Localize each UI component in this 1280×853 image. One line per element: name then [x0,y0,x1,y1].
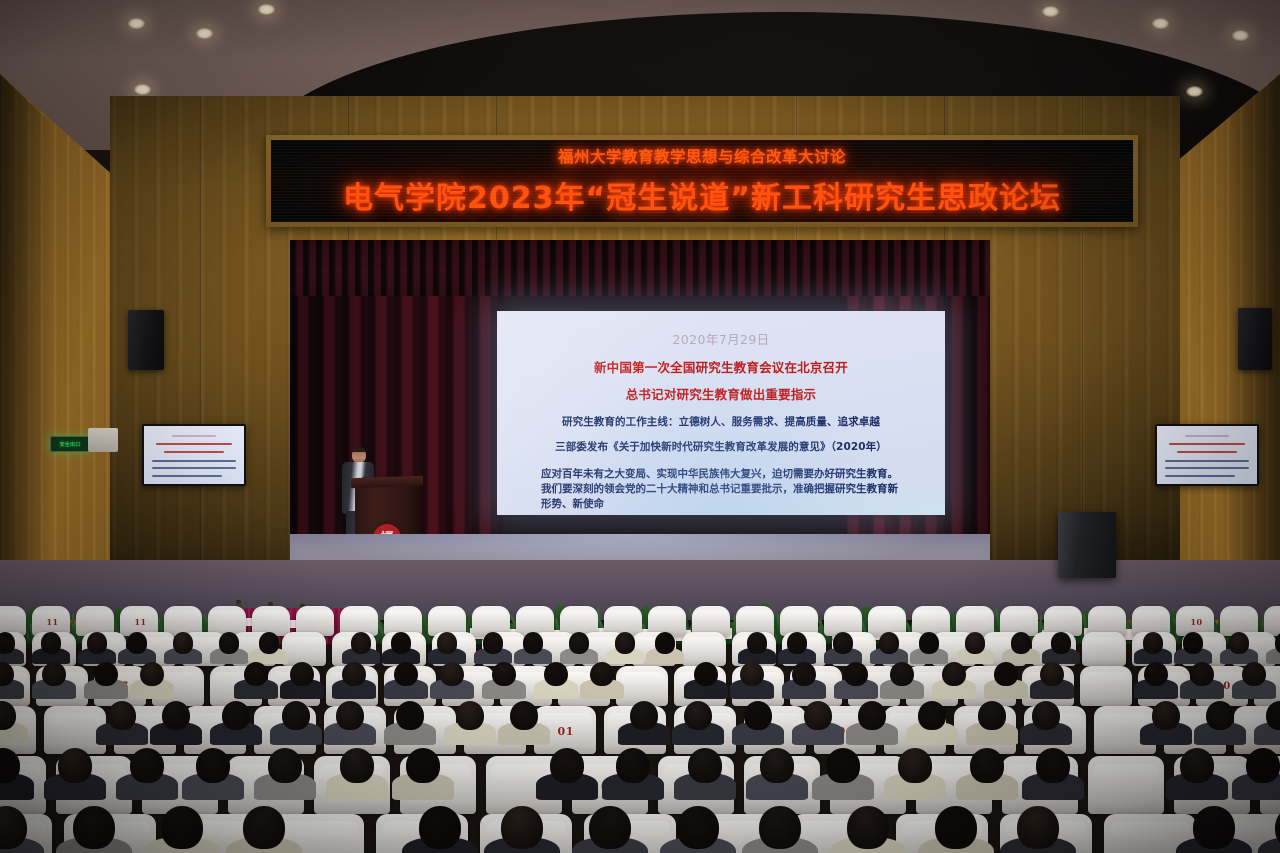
audience-member-head [744,701,772,730]
audience-member-head [523,632,544,654]
mini-text-line [152,460,236,462]
audience-member-head [1246,748,1279,783]
audience-member-head [1190,662,1214,687]
audience-member-head [792,662,816,687]
audience-seating: 1111100907100104050102 [0,600,1280,853]
curtain-valance [290,240,990,296]
audience-member-head [41,632,62,654]
audience-member-head [483,632,504,654]
projection-screen: 2020年7月29日 新中国第一次全国研究生教育会议在北京召开 总书记对研究生教… [497,311,945,515]
audience-member-head [87,632,108,654]
audience-member-head [290,662,314,687]
audience-member-head [391,632,412,654]
audience-member-head [1152,701,1180,730]
audience-member-head [351,632,372,654]
slide-heading-2: 总书记对研究生教育做出重要指示 [626,384,817,403]
audience-member-head [1144,662,1168,687]
audience-member-head [94,662,118,687]
audience-member-head [342,662,366,687]
audience-member-head [161,806,202,849]
seat-number: 10 [1190,617,1202,627]
audience-member-head [243,806,284,849]
audience-member-head [396,701,424,730]
audience-member-head [282,701,310,730]
downlight [1186,86,1203,97]
audience-member-head [1229,632,1250,654]
audience-member-head [1032,701,1060,730]
wall-ac-unit [88,428,118,452]
side-monitor-screen [144,426,244,484]
downlight [196,28,213,39]
audience-member-head [42,662,66,687]
audience-member-head [935,806,976,849]
audience-member-head [336,701,364,730]
audience-member-head [268,748,301,783]
audience-member-head [173,632,194,654]
audience-member-head [437,632,458,654]
audience-member-head [1180,748,1213,783]
audience-member-head [162,701,190,730]
audience-member-head [1242,662,1266,687]
audience-member-head [590,662,614,687]
audience-member-head [108,701,136,730]
audience-member-head [688,748,721,783]
audience-member-head [898,748,931,783]
audience-member-head [918,701,946,730]
left-wall-shadow [0,74,52,634]
audience-member-head [942,662,966,687]
side-monitor-screen [1157,426,1257,484]
side-monitor-left [142,424,246,486]
led-banner-title: 电气学院2023年“冠生说道”新工科研究生思政论坛 [343,173,1061,217]
audience-member-head [406,748,439,783]
mini-text-line [156,443,232,445]
audience-member-head [655,632,676,654]
audience-member-head [847,806,888,849]
audience-member-head [615,632,636,654]
audience-member-head [826,748,859,783]
audience-member-head [787,632,808,654]
audience-chair[interactable] [1082,632,1126,666]
led-banner-subtitle: 福州大学教育教学思想与综合改革大讨论 [558,145,846,167]
audience-member-head [73,806,114,849]
audience-member-head [879,632,900,654]
audience-member-head [196,748,229,783]
led-screen: 福州大学教育教学思想与综合改革大讨论 电气学院2023年“冠生说道”新工科研究生… [271,140,1133,222]
audience-member-head [740,662,764,687]
slide-date: 2020年7月29日 [672,329,769,348]
audience-member-head [340,748,373,783]
audience-member-head [0,632,15,654]
audience-member-head [694,662,718,687]
audience-member-head [419,806,460,849]
mini-text-line [172,435,216,437]
audience-member-head [127,632,148,654]
audience-member-head [130,748,163,783]
audience-member-head [833,632,854,654]
audience-member-head [1183,632,1204,654]
auditorium-scene: 2020年7月29日 新中国第一次全国研究生教育会议在北京召开 总书记对研究生教… [0,0,1280,853]
audience-chair[interactable] [1088,756,1164,814]
audience-member-head [550,748,583,783]
audience-member-head [1051,632,1072,654]
audience-member-head [1206,701,1234,730]
exit-sign-label: 安全出口 [60,441,81,448]
audience-member-head [1040,662,1064,687]
audience-member-head [890,662,914,687]
audience-member-head [1017,806,1058,849]
audience-member-head [616,748,649,783]
side-monitor-right [1155,424,1259,486]
floor-subwoofer [1058,512,1116,578]
podium-top-surface [351,476,423,489]
audience-member-head [747,632,768,654]
audience-member-head [684,701,712,730]
exit-sign: 安全出口 [50,436,90,452]
mini-text-line [1169,443,1245,445]
mini-text-line [1165,467,1249,469]
audience-member-head [569,632,590,654]
audience-member-head [501,806,542,849]
audience-member-head [630,701,658,730]
mini-text-line [1165,460,1249,462]
audience-member-head [1143,632,1164,654]
audience-member-head [978,701,1006,730]
slide-bullet-2: 三部委发布《关于加快新时代研究生教育改革发展的意见》（2020年） [555,439,887,454]
audience-member-head [1036,748,1069,783]
audience-member-head [677,806,718,849]
audience-member-head [440,662,464,687]
audience-member-head [1011,632,1032,654]
slide-content: 2020年7月29日 新中国第一次全国研究生教育会议在北京召开 总书记对研究生教… [497,311,945,515]
seat-number: 11 [46,617,58,627]
audience-member-head [919,632,940,654]
audience-member-head [760,748,793,783]
audience-member-head [1193,806,1234,849]
mini-text-line [152,467,236,469]
downlight [258,4,275,15]
mini-text-line [1177,451,1237,453]
downlight [1042,6,1059,17]
seat-number: 01 [558,725,574,738]
wall-speaker-right [1238,308,1272,370]
audience-chair[interactable] [682,632,726,666]
downlight [1232,30,1249,41]
audience-member-head [456,701,484,730]
slide-paragraph: 应对百年未有之大变局、实现中华民族伟大复兴，迫切需要办好研究生教育。我们要深刻的… [541,467,901,512]
audience-member-head [58,748,91,783]
slide-heading-1: 新中国第一次全国研究生教育会议在北京召开 [594,357,848,376]
audience-member-head [970,748,1003,783]
audience-member-head [994,662,1018,687]
audience-chair[interactable] [282,632,326,666]
led-banner: 福州大学教育教学思想与综合改革大讨论 电气学院2023年“冠生说道”新工科研究生… [266,135,1138,227]
audience-member-head [222,701,250,730]
audience-member-head [844,662,868,687]
audience-member-head [492,662,516,687]
audience-member-head [589,806,630,849]
audience-member-head [394,662,418,687]
seat-number: 11 [134,617,146,627]
downlight [134,84,151,95]
mini-text-line [1165,475,1235,477]
audience-member-head [858,701,886,730]
audience-member-head [140,662,164,687]
downlight [128,18,145,29]
audience-member-head [544,662,568,687]
audience-member-head [219,632,240,654]
mini-text-line [164,451,224,453]
mini-text-line [152,475,222,477]
audience-member-head [244,662,268,687]
slide-bullet-1: 研究生教育的工作主线：立德树人、服务需求、提高质量、追求卓越 [562,414,880,429]
audience-chair[interactable] [1080,666,1132,706]
downlight [1152,18,1169,29]
audience-member-head [965,632,986,654]
wall-speaker-left [128,310,164,370]
presenter-head [352,447,366,463]
audience-member-head [804,701,832,730]
audience-member-head [759,806,800,849]
audience-member-head [510,701,538,730]
audience-member-head [259,632,280,654]
mini-text-line [1185,435,1229,437]
